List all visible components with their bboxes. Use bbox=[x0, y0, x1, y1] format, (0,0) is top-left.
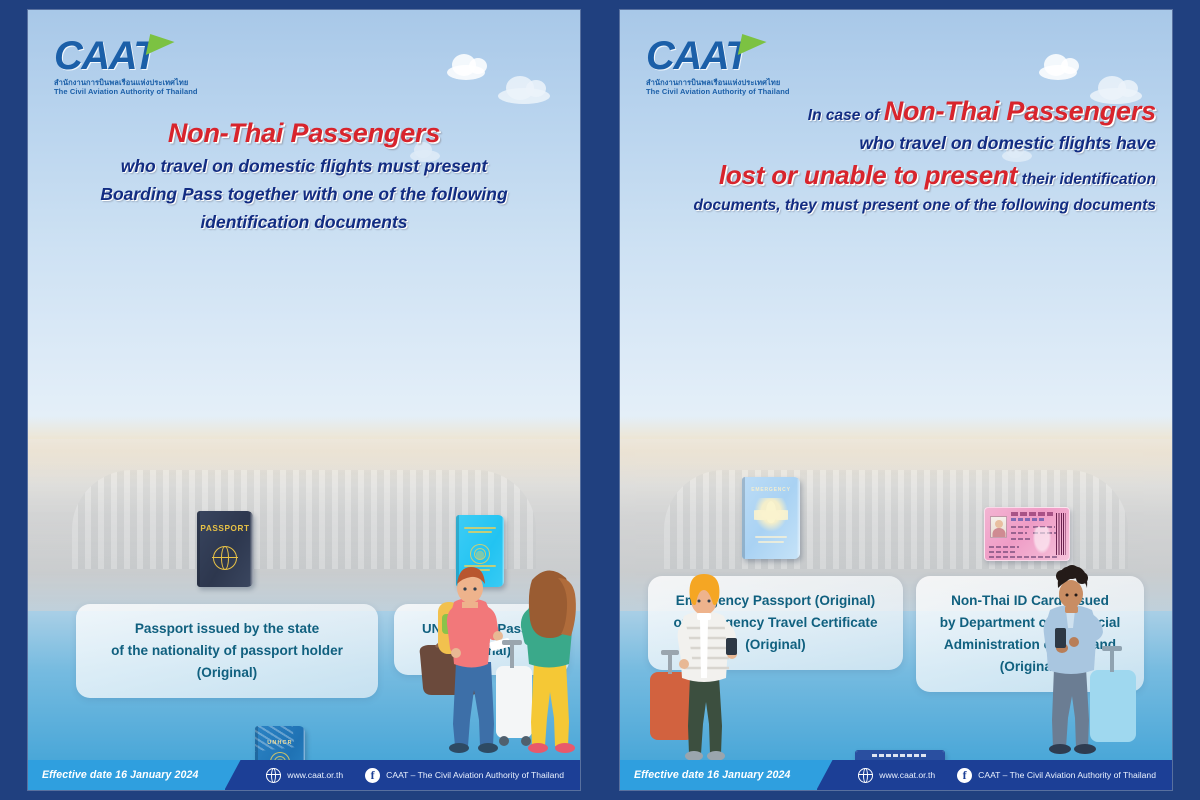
headline-emphasis-non-thai: Non-Thai Passengers bbox=[884, 96, 1156, 126]
logo-subtitle-english: The Civil Aviation Authority of Thailand bbox=[54, 88, 198, 96]
cloud-icon bbox=[1039, 65, 1077, 80]
website-label: www.caat.or.th bbox=[879, 770, 935, 780]
poster-left: CAAT สำนักงานการบินพลเรือนแห่งประเทศไทย … bbox=[28, 10, 580, 790]
id-photo bbox=[990, 516, 1007, 538]
headline-line-4: identification documents bbox=[200, 212, 407, 232]
facebook-link[interactable]: f CAAT – The Civil Aviation Authority of… bbox=[365, 768, 564, 783]
headline-left: Non-Thai Passengers who travel on domest… bbox=[28, 118, 580, 233]
caat-logo: CAAT สำนักงานการบินพลเรือนแห่งประเทศไทย … bbox=[646, 36, 790, 95]
headline-line-3-suffix: their identification bbox=[1022, 171, 1156, 188]
effective-date-badge: Effective date 16 January 2024 bbox=[620, 760, 817, 790]
facebook-link[interactable]: f CAAT – The Civil Aviation Authority of… bbox=[957, 768, 1156, 783]
logo-subtitle-thai: สำนักงานการบินพลเรือนแห่งประเทศไทย bbox=[646, 79, 790, 87]
barcode-icon bbox=[1056, 513, 1066, 555]
website-link[interactable]: www.caat.or.th bbox=[858, 768, 935, 783]
illustration-two-travelers bbox=[418, 558, 580, 760]
poster-right: CAAT สำนักงานการบินพลเรือนแห่งประเทศไทย … bbox=[620, 10, 1172, 790]
navy-passport-icon: PASSPORT bbox=[197, 511, 253, 587]
headline-emphasis-lost: lost or unable to present bbox=[719, 160, 1017, 190]
illustration-traveler-man bbox=[1038, 562, 1156, 762]
facebook-label: CAAT – The Civil Aviation Authority of T… bbox=[386, 770, 564, 780]
emergency-passport-icon: EMERGENCY bbox=[742, 477, 800, 559]
logo-wordmark: CAAT bbox=[646, 36, 748, 76]
footer-right: Effective date 16 January 2024 www.caat.… bbox=[620, 760, 1172, 790]
headline-line-4: documents, they must present one of the … bbox=[694, 197, 1156, 214]
globe-icon bbox=[266, 768, 281, 783]
globe-icon bbox=[858, 768, 873, 783]
logo-subtitle-thai: สำนักงานการบินพลเรือนแห่งประเทศไทย bbox=[54, 79, 198, 87]
poster-pair-canvas: CAAT สำนักงานการบินพลเรือนแห่งประเทศไทย … bbox=[0, 0, 1200, 800]
facebook-icon: f bbox=[365, 768, 380, 783]
caat-logo: CAAT สำนักงานการบินพลเรือนแห่งประเทศไทย … bbox=[54, 36, 198, 95]
headline-right: In case of Non-Thai Passengers who trave… bbox=[620, 96, 1172, 215]
cloud-icon bbox=[447, 65, 485, 80]
logo-wordmark: CAAT bbox=[54, 36, 156, 76]
illustration-traveler-woman bbox=[644, 568, 754, 763]
globe-emblem-icon bbox=[213, 546, 237, 570]
passport-wordmark: PASSPORT bbox=[197, 524, 253, 533]
headline-emphasis-non-thai: Non-Thai Passengers bbox=[168, 118, 440, 148]
facebook-label: CAAT – The Civil Aviation Authority of T… bbox=[978, 770, 1156, 780]
headline-line-2: who travel on domestic flights must pres… bbox=[121, 156, 488, 176]
headline-line-3: Boarding Pass together with one of the f… bbox=[100, 184, 507, 204]
thai-id-card-icon bbox=[984, 507, 1070, 561]
footer-left: Effective date 16 January 2024 www.caat.… bbox=[28, 760, 580, 790]
garuda-emblem-icon bbox=[754, 498, 788, 532]
cloud-icon bbox=[498, 88, 550, 104]
card-passport[interactable]: Passport issued by the state of the nati… bbox=[76, 604, 378, 698]
website-link[interactable]: www.caat.or.th bbox=[266, 768, 343, 783]
effective-date-badge: Effective date 16 January 2024 bbox=[28, 760, 225, 790]
logo-swoosh-icon bbox=[738, 34, 768, 55]
headline-prefix: In case of bbox=[808, 107, 880, 124]
logo-swoosh-icon bbox=[146, 34, 176, 55]
website-label: www.caat.or.th bbox=[287, 770, 343, 780]
logo-subtitle-english: The Civil Aviation Authority of Thailand bbox=[646, 88, 790, 96]
headline-line-2: who travel on domestic flights have bbox=[859, 133, 1156, 153]
facebook-icon: f bbox=[957, 768, 972, 783]
